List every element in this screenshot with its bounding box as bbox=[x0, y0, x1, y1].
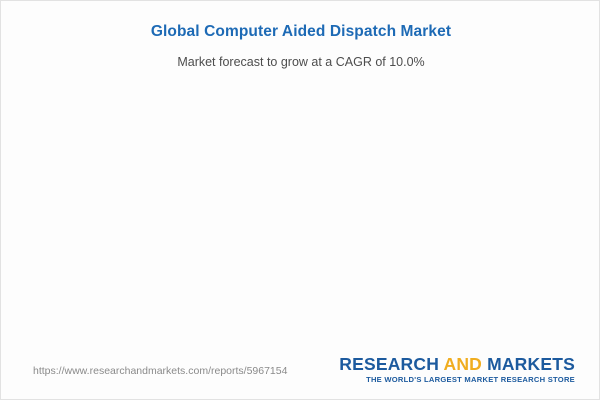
plot-area: USD 2.14 Billion 2024 USD 3.83 Billion bbox=[1, 1, 600, 349]
brand-logo[interactable]: RESEARCH AND MARKETS THE WORLD'S LARGEST… bbox=[339, 355, 575, 384]
source-url[interactable]: https://www.researchandmarkets.com/repor… bbox=[33, 365, 287, 377]
brand-word-research: RESEARCH bbox=[339, 354, 439, 374]
brand-name: RESEARCH AND MARKETS bbox=[339, 355, 575, 373]
chart-card: Global Computer Aided Dispatch Market Ma… bbox=[0, 0, 600, 400]
footer: https://www.researchandmarkets.com/repor… bbox=[1, 347, 600, 399]
brand-word-markets: MARKETS bbox=[487, 354, 575, 374]
brand-word-and: AND bbox=[439, 354, 487, 374]
brand-tagline: THE WORLD'S LARGEST MARKET RESEARCH STOR… bbox=[339, 375, 575, 384]
